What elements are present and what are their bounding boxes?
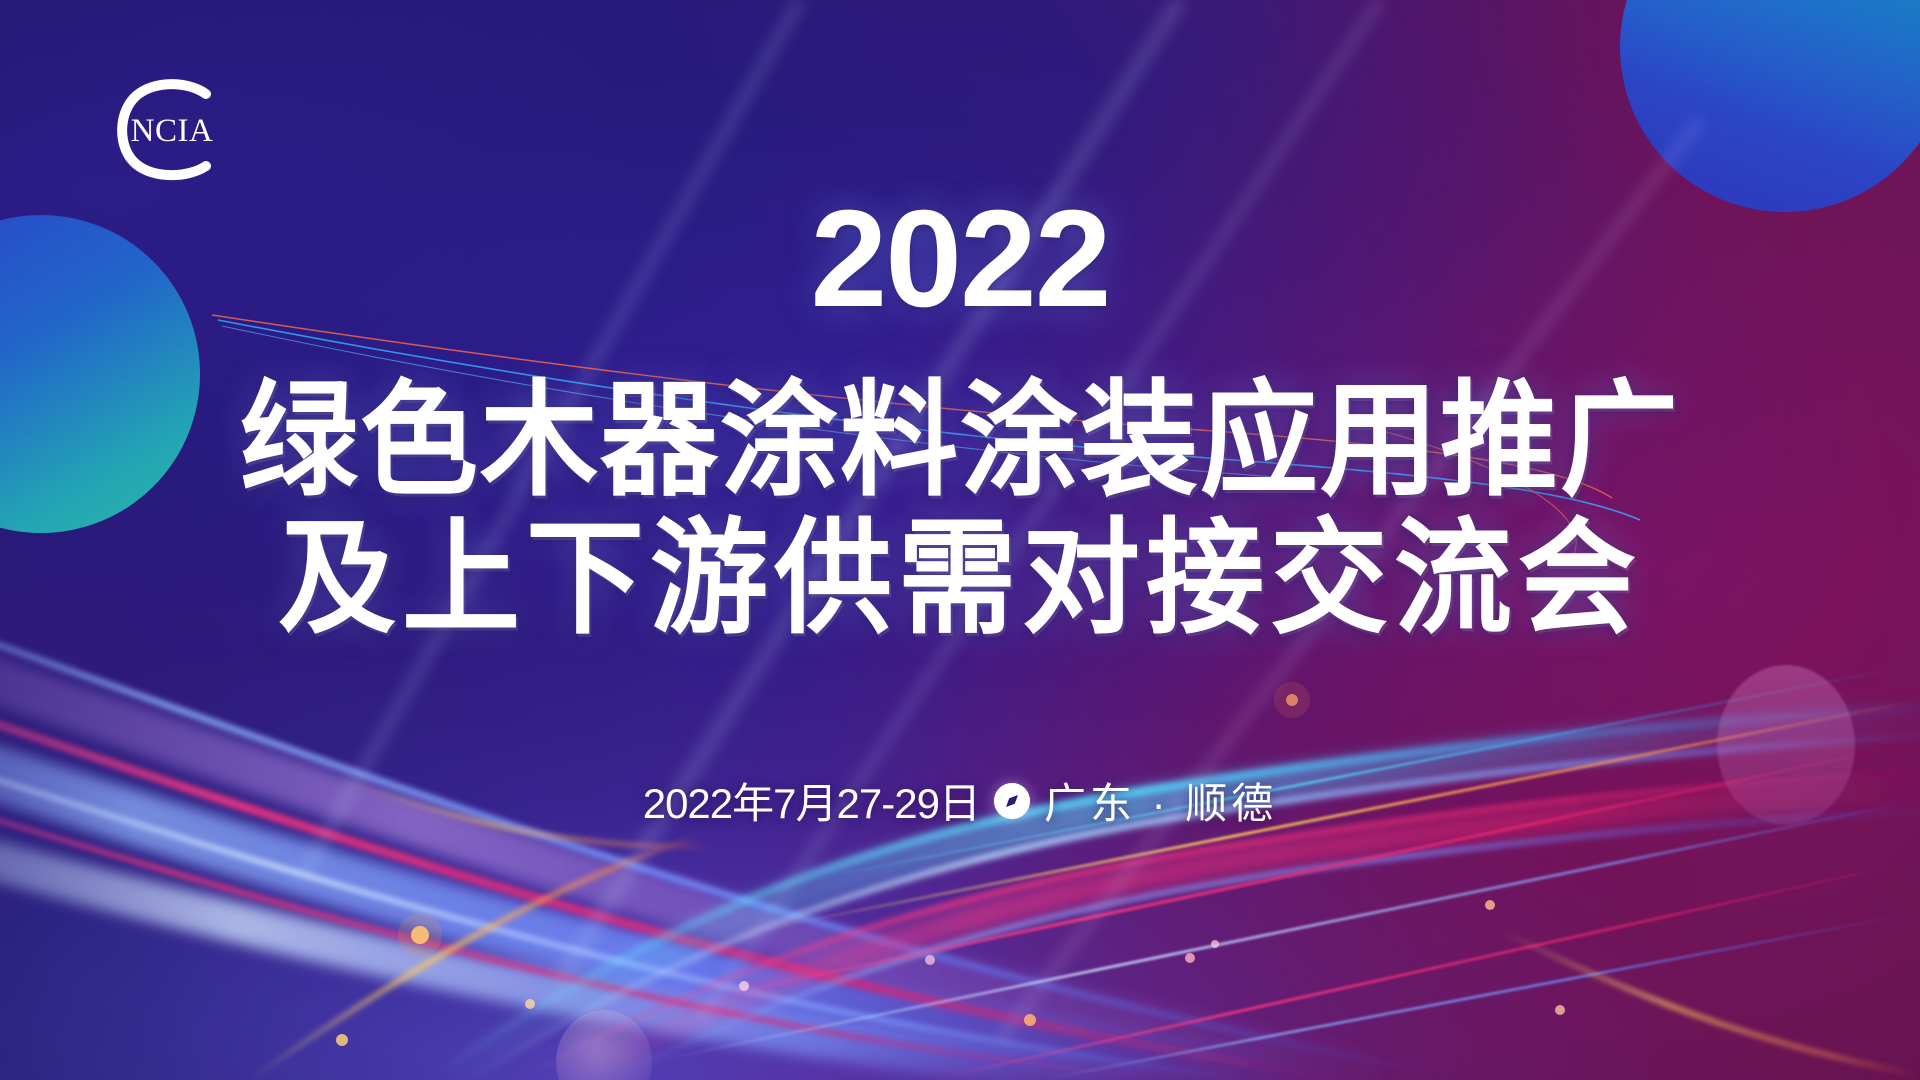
compass-icon bbox=[994, 783, 1030, 819]
event-title: 绿色木器涂料涂装应用推广 及上下游供需对接交流会 bbox=[0, 372, 1920, 648]
cncia-logo-inner-text: NCIA bbox=[131, 113, 214, 149]
event-poster: NCIA 2022 绿色木器涂料涂装应用推广 及上下游供需对接交流会 2022年… bbox=[0, 0, 1920, 1080]
event-title-line-2: 及上下游供需对接交流会 bbox=[0, 506, 1920, 652]
event-location: 广东 · 顺德 bbox=[1044, 770, 1277, 831]
event-title-line-1: 绿色木器涂料涂装应用推广 bbox=[0, 368, 1920, 514]
event-date: 2022年7月27-29日 bbox=[643, 770, 980, 831]
event-year: 2022 bbox=[0, 190, 1920, 328]
cncia-logo: NCIA bbox=[110, 78, 230, 182]
event-meta: 2022年7月27-29日 广东 · 顺德 bbox=[0, 770, 1920, 831]
